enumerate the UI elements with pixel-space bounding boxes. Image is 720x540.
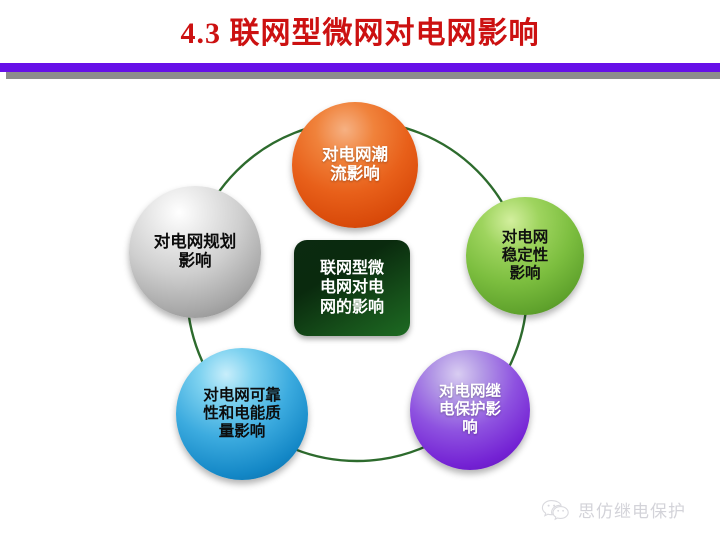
watermark: 思仿继电保护: [541, 497, 686, 522]
node-power-flow-label: 对电网潮 流影响: [322, 146, 388, 184]
page-title: 4.3 联网型微网对电网影响: [0, 12, 720, 56]
node-stability-label: 对电网 稳定性 影响: [502, 229, 549, 283]
node-power-flow[interactable]: 对电网潮 流影响: [292, 102, 418, 228]
node-center-label: 联网型微 电网对电 网的影响: [320, 259, 384, 317]
title-rule: [0, 63, 720, 72]
node-center[interactable]: 联网型微 电网对电 网的影响: [294, 240, 410, 336]
watermark-text: 思仿继电保护: [578, 497, 686, 522]
slide-canvas: 4.3 联网型微网对电网影响 对电网潮 流影响 对电网 稳定性 影响 对电网继 …: [0, 0, 720, 540]
radial-cycle-diagram: 对电网潮 流影响 对电网 稳定性 影响 对电网继 电保护影 响 对电网可靠 性和…: [0, 82, 720, 482]
node-planning[interactable]: 对电网规划 影响: [129, 186, 261, 318]
node-reliability-quality[interactable]: 对电网可靠 性和电能质 量影响: [176, 348, 308, 480]
node-stability[interactable]: 对电网 稳定性 影响: [466, 197, 584, 315]
node-relay-protection[interactable]: 对电网继 电保护影 响: [410, 350, 530, 470]
node-planning-label: 对电网规划 影响: [154, 233, 237, 271]
node-reliability-quality-label: 对电网可靠 性和电能质 量影响: [203, 387, 281, 441]
wechat-icon: [541, 499, 571, 521]
title-rule-shadow: [6, 72, 720, 79]
title-area: 4.3 联网型微网对电网影响: [0, 0, 720, 80]
node-relay-protection-label: 对电网继 电保护影 响: [439, 383, 501, 437]
